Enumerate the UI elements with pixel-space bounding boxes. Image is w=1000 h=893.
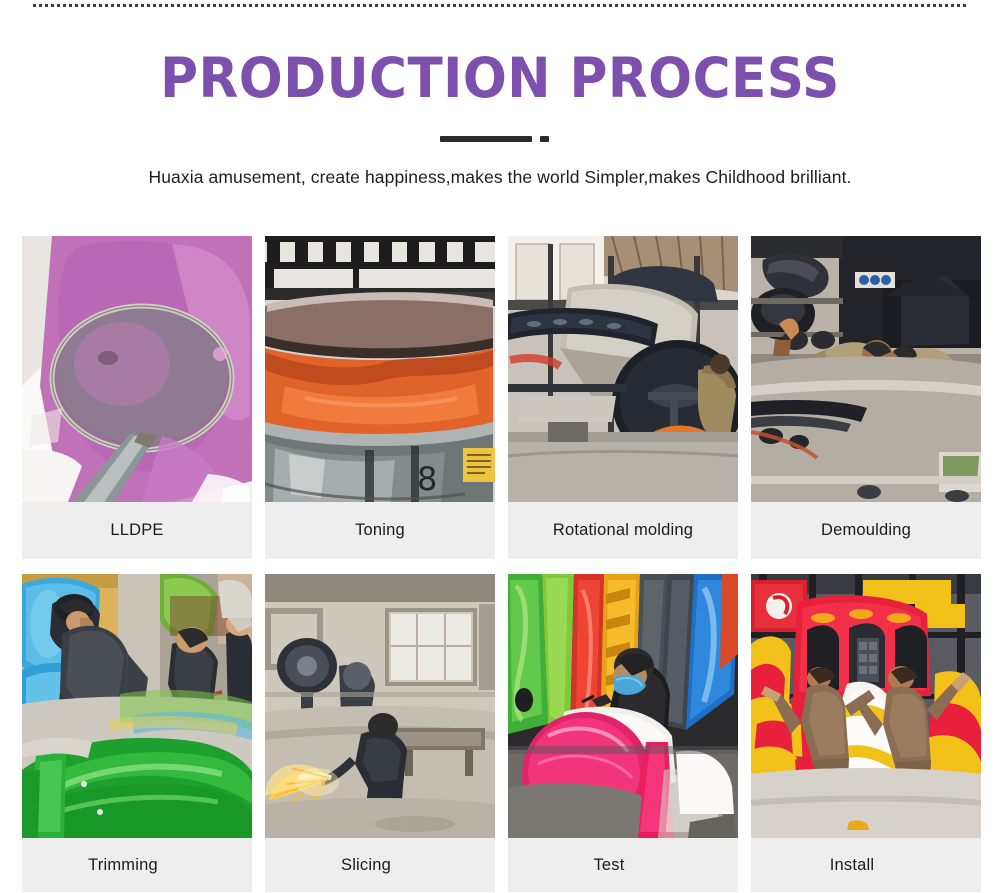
toning-illustration: 8 (265, 236, 495, 502)
divider-dot (540, 136, 549, 142)
svg-text:8: 8 (417, 460, 437, 498)
process-caption-slicing: Slicing (265, 838, 495, 892)
process-card-test[interactable]: Test (508, 574, 738, 892)
process-caption-lldpe: LLDPE (22, 502, 252, 559)
process-caption-rotational-molding: Rotational molding (508, 502, 738, 559)
process-photo-demoulding (751, 236, 981, 502)
production-process-page: PRODUCTION PROCESS Huaxia amusement, cre… (0, 0, 1000, 893)
divider-bar (440, 136, 532, 142)
process-photo-toning: 8 (265, 236, 495, 502)
process-photo-install (751, 574, 981, 838)
process-photo-lldpe (22, 236, 252, 502)
process-caption-test: Test (508, 838, 738, 892)
process-caption-demoulding: Demoulding (751, 502, 981, 559)
page-title: PRODUCTION PROCESS (30, 44, 970, 112)
process-label: LLDPE (110, 521, 163, 540)
process-photo-trimming (22, 574, 252, 838)
process-label: Trimming (88, 856, 158, 875)
process-card-demoulding[interactable]: Demoulding (751, 236, 981, 559)
process-card-trimming[interactable]: Trimming (22, 574, 252, 892)
process-caption-toning: Toning (265, 502, 495, 559)
process-card-toning[interactable]: 8 Toning (265, 236, 495, 559)
dotted-rule (33, 4, 967, 7)
process-step-grid: LLDPE (22, 236, 988, 892)
section-header: PRODUCTION PROCESS Huaxia amusement, cre… (0, 44, 1000, 189)
lldpe-illustration (22, 236, 252, 502)
process-caption-install: Install (751, 838, 981, 892)
process-photo-slicing (265, 574, 495, 838)
title-divider (440, 135, 560, 143)
test-illustration (508, 574, 738, 838)
trimming-illustration (22, 574, 252, 838)
process-card-slicing[interactable]: Slicing (265, 574, 495, 892)
process-card-rotational-molding[interactable]: Rotational molding (508, 236, 738, 559)
process-card-lldpe[interactable]: LLDPE (22, 236, 252, 559)
process-label: Install (830, 856, 875, 875)
process-photo-rotational-molding (508, 236, 738, 502)
process-caption-trimming: Trimming (22, 838, 252, 892)
process-label: Test (593, 856, 624, 875)
process-label: Toning (355, 521, 405, 540)
process-photo-test (508, 574, 738, 838)
process-card-install[interactable]: Install (751, 574, 981, 892)
process-row-1: LLDPE (22, 236, 988, 559)
process-row-2: Trimming (22, 574, 988, 892)
process-label: Slicing (341, 856, 391, 875)
process-label: Demoulding (821, 521, 911, 540)
demoulding-illustration (751, 236, 981, 502)
section-subtitle: Huaxia amusement, create happiness,makes… (0, 165, 1000, 189)
install-illustration (751, 574, 981, 838)
process-label: Rotational molding (553, 521, 693, 540)
rotational-molding-illustration (508, 236, 738, 502)
slicing-illustration (265, 574, 495, 838)
